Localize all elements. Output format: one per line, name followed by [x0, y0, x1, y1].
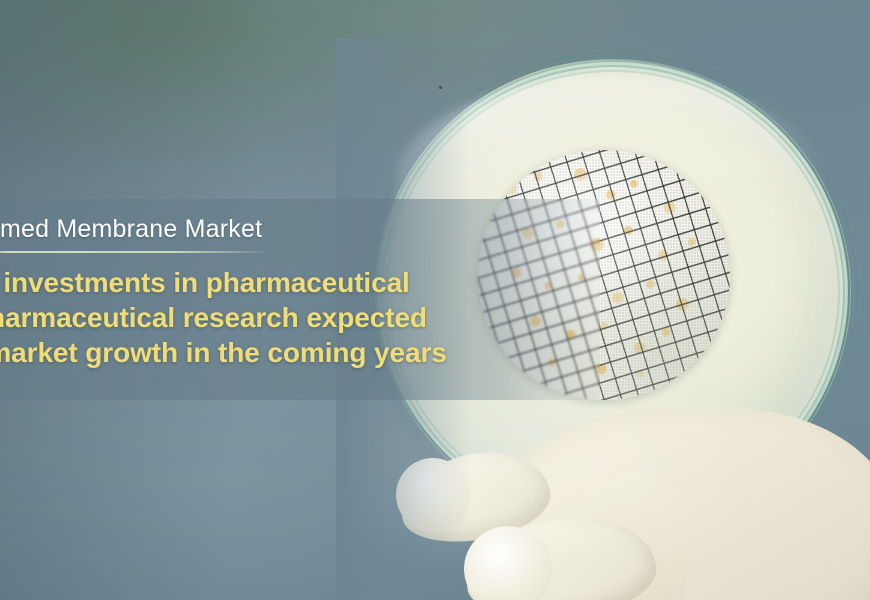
headline-line-2: opharmaceutical research expected — [0, 300, 447, 335]
headline-line-3: st market growth in the coming years — [0, 335, 447, 370]
headline-line-1: ing investments in pharmaceutical — [0, 265, 447, 300]
report-title: med Membrane Market — [0, 215, 262, 244]
market-report-banner: med Membrane Market ing investments in p… — [0, 0, 870, 600]
caption-overlay-panel: med Membrane Market ing investments in p… — [0, 199, 600, 400]
caption-content: med Membrane Market ing investments in p… — [0, 199, 600, 400]
dish-speck — [439, 86, 442, 89]
headline: ing investments in pharmaceutical opharm… — [0, 265, 447, 370]
title-divider — [0, 251, 266, 253]
